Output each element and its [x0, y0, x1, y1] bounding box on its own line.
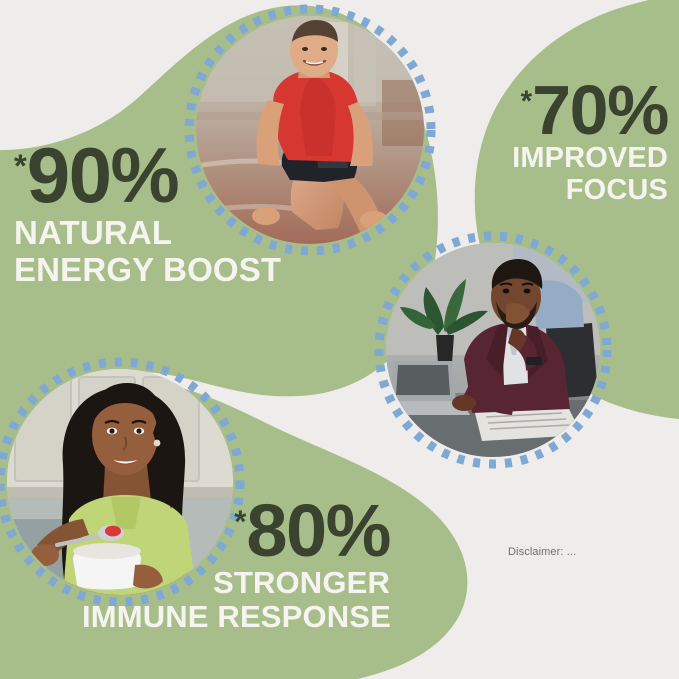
- stat-caption-energy-line2: ENERGY BOOST: [14, 253, 281, 287]
- stat-caption-immune-line1: STRONGER: [82, 567, 390, 599]
- stat-number-focus: 70%: [532, 71, 668, 149]
- asterisk-energy: *: [14, 147, 27, 184]
- asterisk-immune: *: [234, 504, 246, 539]
- stat-block-immune: *80% STRONGER IMMUNE RESPONSE: [82, 497, 390, 632]
- disclaimer-text: Disclaimer: ...: [508, 546, 576, 558]
- stat-caption-focus-line2: FOCUS: [492, 176, 668, 206]
- stat-block-energy: *90% NATURAL ENERGY BOOST: [14, 140, 281, 287]
- infographic-canvas: *90% NATURAL ENERGY BOOST *70% IMPROVED …: [0, 0, 679, 679]
- stat-block-focus: *70% IMPROVED FOCUS: [492, 78, 668, 206]
- stat-value-energy: *90%: [14, 140, 281, 212]
- stat-value-immune: *80%: [82, 497, 390, 565]
- stat-caption-focus-line1: IMPROVED: [492, 144, 668, 174]
- stat-number-energy: 90%: [27, 131, 178, 219]
- asterisk-focus: *: [521, 85, 532, 118]
- stat-caption-energy-line1: NATURAL: [14, 216, 281, 250]
- stat-value-focus: *70%: [492, 78, 668, 142]
- stat-number-immune: 80%: [246, 489, 390, 572]
- stat-caption-immune-line2: IMMUNE RESPONSE: [82, 601, 390, 633]
